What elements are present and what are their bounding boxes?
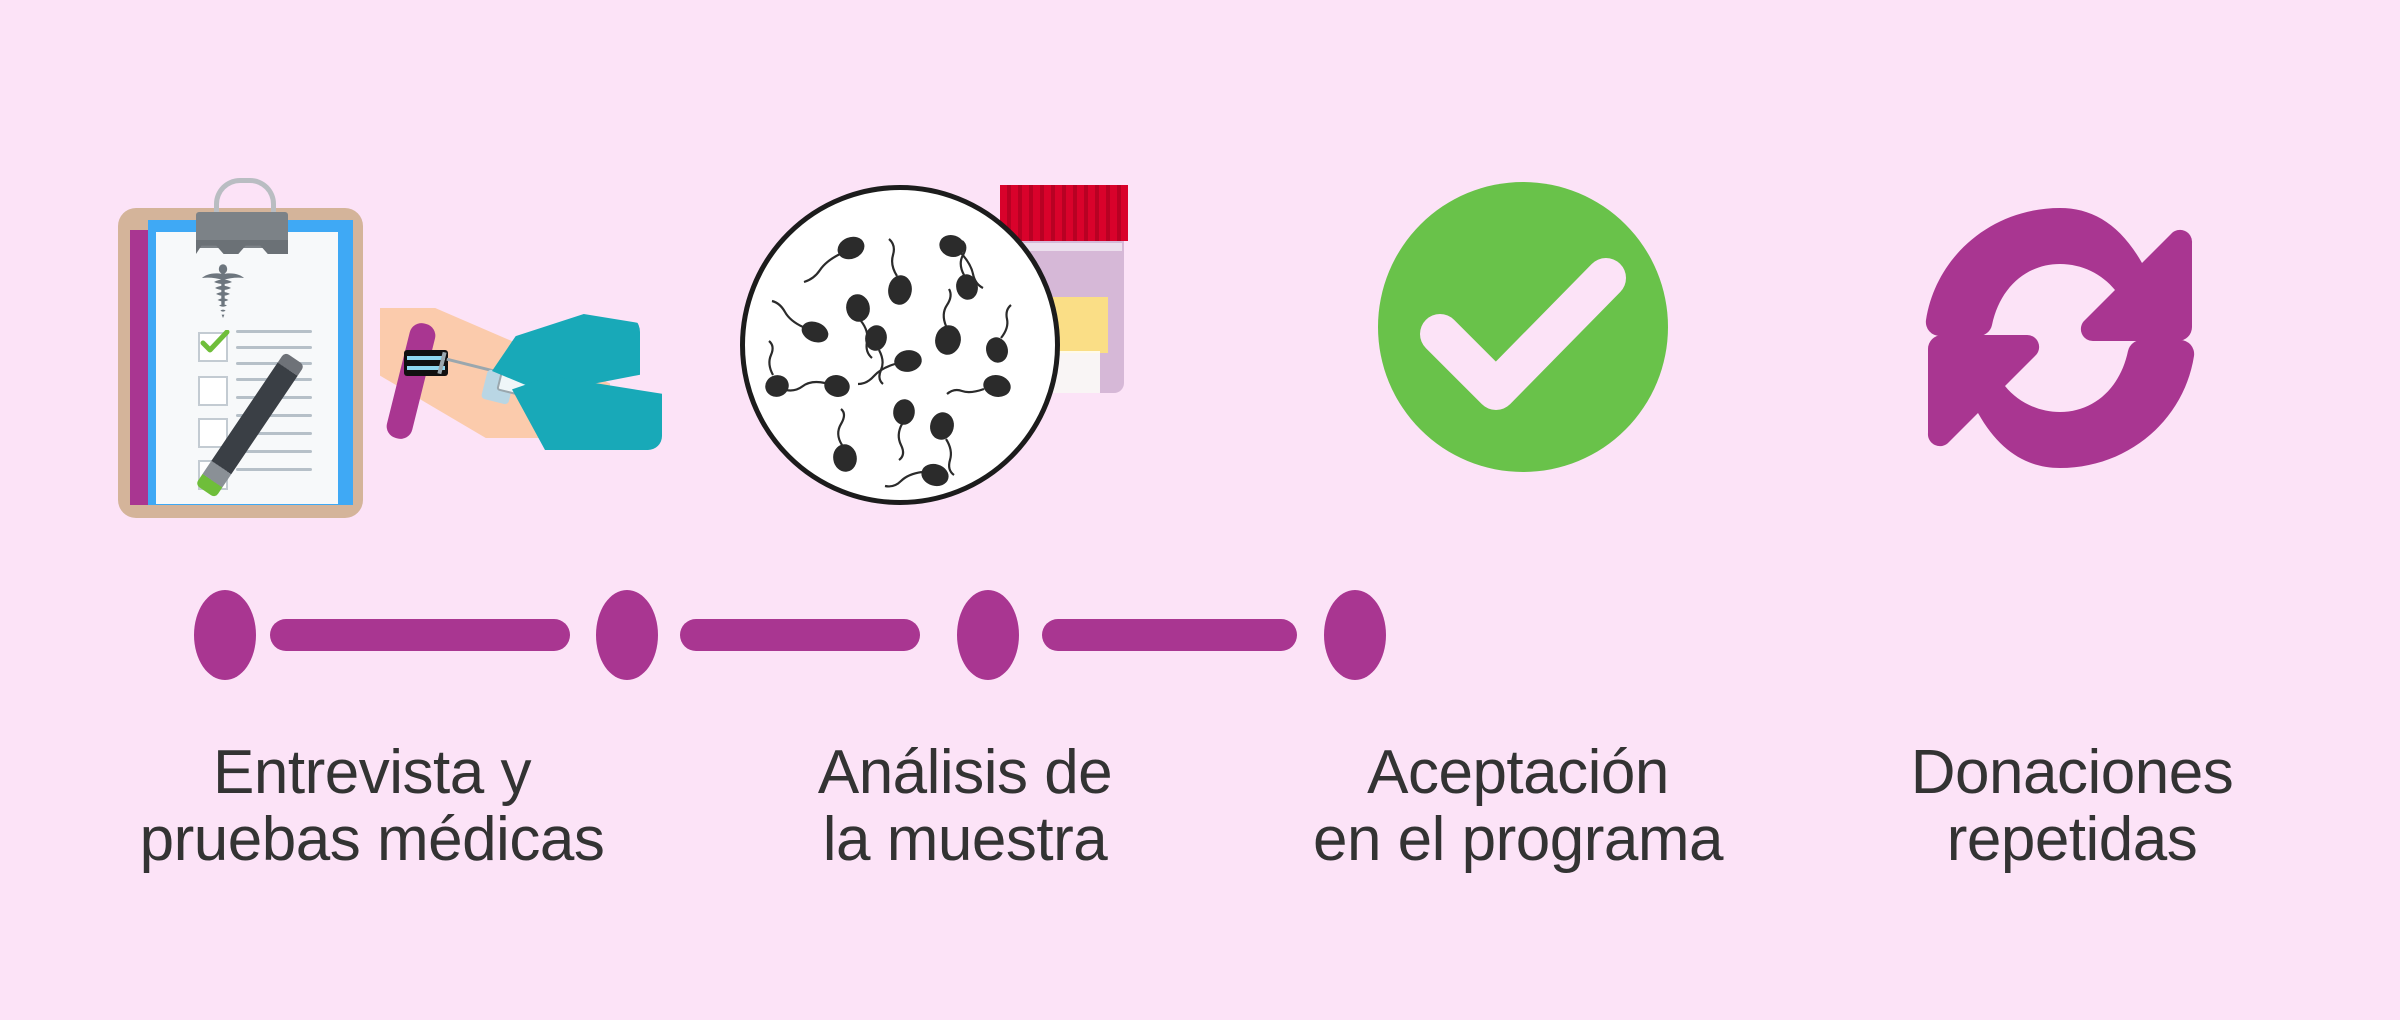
step-2-label-line1: Análisis de — [818, 740, 1112, 807]
step-3-icon-group — [1378, 182, 1688, 492]
step-3-label-line1: Aceptación — [1313, 740, 1723, 807]
form-line — [236, 468, 312, 471]
step-2-icon-group — [735, 165, 1195, 545]
step-1-label-line1: Entrevista y — [140, 740, 605, 807]
timeline-connector-2 — [680, 619, 920, 651]
step-4-label-line1: Donaciones — [1911, 740, 2233, 807]
step-1-icon-group — [118, 170, 678, 540]
step-1-label-line2: pruebas médicas — [140, 807, 605, 874]
step-4-label-line2: repetidas — [1911, 807, 2233, 874]
timeline-connector-3 — [1042, 619, 1297, 651]
caduceus-icon — [200, 262, 246, 318]
infographic-canvas: Entrevista y pruebas médicas Análisis de… — [0, 0, 2400, 1020]
gloved-hand-lower — [512, 376, 662, 450]
step-2-label: Análisis de la muestra — [818, 740, 1112, 874]
form-line — [236, 450, 312, 453]
timeline-connector-1 — [270, 619, 570, 651]
step-4-label: Donaciones repetidas — [1911, 740, 2233, 874]
step-3-label: Aceptación en el programa — [1313, 740, 1723, 874]
medical-clipboard-icon — [118, 170, 368, 530]
check-mark-icon — [1378, 182, 1668, 472]
clipboard-paper-front — [156, 232, 338, 504]
checkbox-empty-1 — [198, 376, 228, 406]
refresh-cycle-icon — [1900, 178, 2220, 498]
check-mark-icon — [200, 330, 230, 354]
petri-dish-sperm-icon — [740, 185, 1060, 505]
blood-draw-icon — [380, 290, 680, 470]
green-check-circle-icon — [1378, 182, 1668, 472]
timeline-dot-step-1[interactable] — [194, 590, 256, 680]
timeline-dot-step-2[interactable] — [596, 590, 658, 680]
timeline-dot-step-3[interactable] — [957, 590, 1019, 680]
step-4-icon-group — [1900, 178, 2230, 508]
container-cap — [1000, 185, 1128, 241]
form-line — [236, 330, 312, 333]
sperm-cells — [745, 190, 1055, 500]
step-1-label: Entrevista y pruebas médicas — [140, 740, 605, 874]
step-2-label-line2: la muestra — [818, 807, 1112, 874]
step-3-label-line2: en el programa — [1313, 807, 1723, 874]
timeline-dot-step-4[interactable] — [1324, 590, 1386, 680]
form-line — [236, 346, 312, 349]
